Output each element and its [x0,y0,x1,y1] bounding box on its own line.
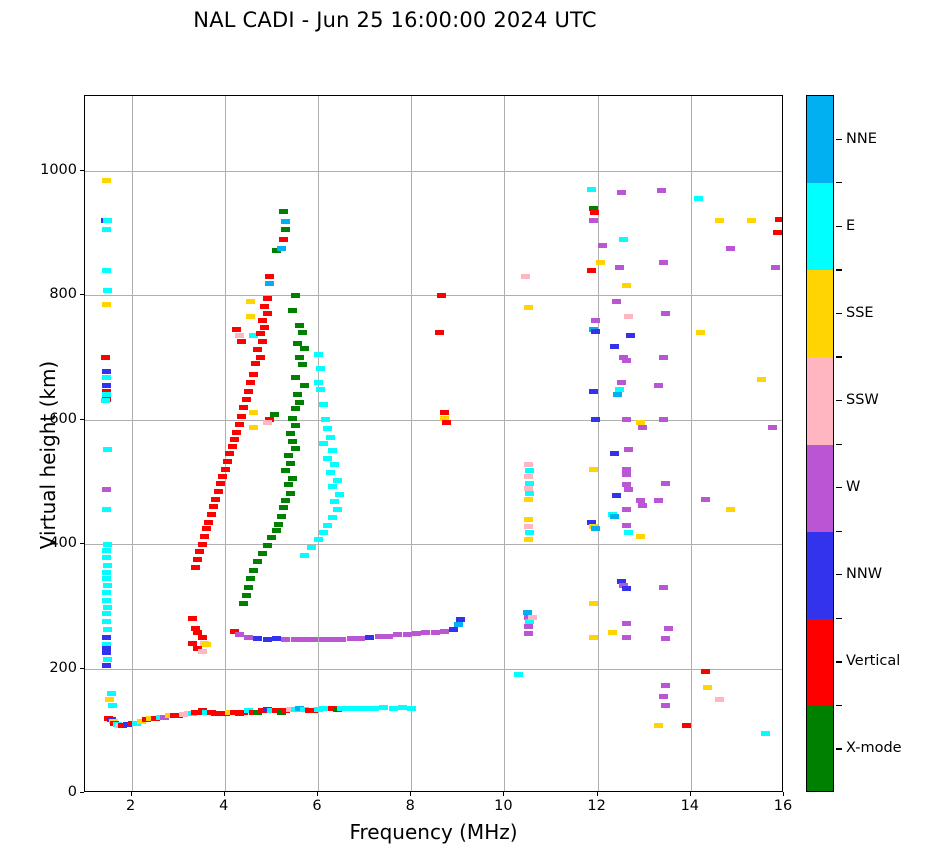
echo-point [263,296,272,301]
echo-point [591,318,600,323]
echo-point [622,358,631,363]
echo-point [524,305,533,310]
echo-point [321,417,330,422]
gridline-horizontal [85,295,782,296]
echo-point [300,553,309,558]
echo-point [622,586,631,591]
echo-point [193,557,202,562]
echo-point [622,635,631,640]
echo-point [624,530,633,535]
echo-point [747,218,756,223]
echo-point [198,635,207,640]
y-axis-tick [80,792,84,793]
echo-point [323,426,332,431]
echo-point [102,548,111,553]
echo-point [761,731,770,736]
colorbar-label-e: E [846,218,855,234]
echo-point [715,218,724,223]
colorbar-center-tick [836,574,842,575]
echo-point [265,274,274,279]
echo-point [619,237,628,242]
echo-point [221,467,230,472]
echo-point [694,196,703,201]
echo-point [249,425,258,430]
y-axis-tick-label: 600 [49,411,77,427]
echo-point [598,243,607,248]
echo-point [246,314,255,319]
echo-point [659,417,668,422]
echo-point [102,650,111,655]
x-axis-tick-label: 6 [312,798,321,814]
echo-point [661,683,670,688]
echo-point [258,339,267,344]
echo-point [347,636,356,641]
echo-point [521,274,530,279]
echo-point [295,400,304,405]
page-title: NAL CADI - Jun 25 16:00:00 2024 UTC [0,8,790,32]
echo-point [228,444,237,449]
echo-point [757,377,766,382]
x-axis-tick-label: 16 [774,798,792,814]
echo-point [659,585,668,590]
echo-point [209,504,218,509]
colorbar-center-tick [836,226,842,227]
gridline-horizontal [85,544,782,545]
echo-point [524,537,533,542]
echo-point [202,642,211,647]
echo-point [617,190,626,195]
echo-point [589,601,598,606]
echo-point [101,398,110,403]
echo-point [437,293,446,298]
echo-point [412,631,421,636]
echo-point [253,559,262,564]
echo-point [242,593,251,598]
colorbar-band-sse [807,270,833,357]
echo-point [726,507,735,512]
gridline-vertical [132,96,133,791]
echo-point [281,498,290,503]
colorbar-center-tick [836,487,842,488]
echo-point [638,503,647,508]
colorbar-tick [836,531,842,532]
echo-point [661,703,670,708]
colorbar-tick [836,269,842,270]
echo-point [263,637,272,642]
echo-point [589,467,598,472]
echo-point [237,414,246,419]
echo-point [454,622,463,627]
echo-point [773,230,782,235]
echo-point [102,555,111,560]
echo-point [384,634,393,639]
echo-point [525,530,534,535]
echo-point [319,530,328,535]
echo-point [610,514,619,519]
echo-point [449,627,458,632]
x-axis-tick-label: 2 [126,798,135,814]
echo-point [102,619,111,624]
echo-point [251,361,260,366]
y-axis-tick-label: 1000 [40,162,77,178]
echo-point [103,583,112,588]
echo-point [323,523,332,528]
echo-point [103,542,112,547]
echo-point [256,355,265,360]
colorbar-label-nnw: NNW [846,566,882,582]
echo-point [295,355,304,360]
echo-point [103,447,112,452]
x-axis-tick [690,792,691,796]
echo-point [277,246,286,251]
echo-point [244,635,253,640]
echo-point [204,520,213,525]
echo-point [715,697,724,702]
echo-point [612,299,621,304]
echo-point [610,344,619,349]
echo-point [361,706,370,711]
echo-point [277,514,286,519]
echo-point [393,632,402,637]
echo-point [319,441,328,446]
echo-point [291,423,300,428]
echo-point [300,346,309,351]
echo-point [407,706,416,711]
colorbar-center-tick [836,139,842,140]
colorbar-tick [836,618,842,619]
echo-point [214,489,223,494]
x-axis-tick [131,792,132,796]
y-axis-tick-label: 800 [49,286,77,302]
echo-point [330,462,339,467]
echo-point [284,453,293,458]
gridline-vertical [598,96,599,791]
echo-point [286,431,295,436]
echo-point [195,549,204,554]
gridline-horizontal [85,420,782,421]
echo-point [525,468,534,473]
echo-point [258,318,267,323]
echo-point [596,260,605,265]
echo-point [102,302,111,307]
echo-point [316,387,325,392]
echo-point [591,526,600,531]
y-axis-tick-label: 0 [68,784,77,800]
colorbar-band-ssw [807,357,833,444]
echo-point [442,420,451,425]
echo-point [333,478,342,483]
echo-point [654,723,663,728]
echo-point [293,392,302,397]
colorbar-band-e [807,183,833,270]
echo-point [274,522,283,527]
echo-point [281,468,290,473]
echo-point [107,691,116,696]
echo-point [188,616,197,621]
echo-point [326,470,335,475]
echo-point [288,439,297,444]
echo-point [239,405,248,410]
echo-point [591,417,600,422]
x-axis-label: Frequency (MHz) [84,820,783,844]
echo-point [291,637,300,642]
echo-point [622,283,631,288]
echo-point [211,497,220,502]
echo-point [590,210,599,215]
echo-point [525,491,534,496]
echo-point [365,635,374,640]
echo-point [295,323,304,328]
echo-point [103,657,112,662]
echo-point [626,333,635,338]
echo-point [309,637,318,642]
echo-point [622,523,631,528]
echo-point [768,425,777,430]
echo-point [230,437,239,442]
echo-point [771,265,780,270]
echo-point [291,406,300,411]
echo-point [232,430,241,435]
gridline-vertical [411,96,412,791]
echo-point [281,637,290,642]
colorbar-label-w: W [846,479,860,495]
x-axis-tick [503,792,504,796]
echo-point [456,617,465,622]
echo-point [244,389,253,394]
colorbar-center-tick [836,400,842,401]
echo-point [701,669,710,674]
echo-point [701,497,710,502]
echo-point [207,512,216,517]
echo-point [622,507,631,512]
echo-point [260,325,269,330]
echo-point [636,534,645,539]
echo-point [659,694,668,699]
colorbar-center-tick [836,313,842,314]
echo-point [661,311,670,316]
echo-point [244,585,253,590]
echo-point [330,499,339,504]
echo-point [589,635,598,640]
echo-point [202,526,211,531]
echo-point [298,330,307,335]
x-axis-tick [317,792,318,796]
echo-point [102,611,111,616]
echo-point [398,705,407,710]
echo-point [102,590,111,595]
echo-point [235,422,244,427]
echo-point [316,366,325,371]
echo-point [610,451,619,456]
echo-point [103,563,112,568]
echo-point [102,227,111,232]
echo-point [101,355,110,360]
x-axis-tick-label: 8 [406,798,415,814]
echo-point [524,474,533,479]
echo-point [314,380,323,385]
echo-point [328,484,337,489]
echo-point [591,329,600,334]
echo-point [654,498,663,503]
echo-point [249,568,258,573]
gridline-vertical [691,96,692,791]
echo-point [102,178,111,183]
echo-point [267,535,276,540]
echo-point [624,487,633,492]
y-axis-tick [80,543,84,544]
echo-point [326,435,335,440]
echo-point [587,187,596,192]
echo-point [216,481,225,486]
echo-point [587,268,596,273]
echo-point [200,534,209,539]
echo-point [300,383,309,388]
echo-point [263,311,272,316]
gridline-vertical [504,96,505,791]
echo-point [249,372,258,377]
y-axis-tick [80,170,84,171]
echo-point [435,330,444,335]
echo-point [253,636,262,641]
y-axis-tick [80,668,84,669]
echo-point [696,330,705,335]
echo-point [335,492,344,497]
echo-point [356,636,365,641]
colorbar-tick [836,705,842,706]
colorbar-label-x-mode: X-mode [846,740,902,756]
echo-point [256,331,265,336]
echo-point [102,570,111,575]
echo-point [279,505,288,510]
echo-point [218,474,227,479]
colorbar-tick [836,356,842,357]
echo-point [258,551,267,556]
echo-point [661,481,670,486]
echo-point [286,461,295,466]
echo-point [661,636,670,641]
colorbar-label-nne: NNE [846,131,877,147]
colorbar-tick [836,182,842,183]
gridline-horizontal [85,669,782,670]
echo-point [589,218,598,223]
ionogram-plot-area [84,95,783,792]
echo-point [260,304,269,309]
x-axis-tick-label: 12 [587,798,605,814]
x-axis-tick-label: 10 [494,798,512,814]
echo-point [291,446,300,451]
y-axis-tick-label: 400 [49,535,77,551]
echo-point [328,637,337,642]
echo-point [102,507,111,512]
x-axis-tick [783,792,784,796]
echo-point [288,308,297,313]
echo-point [279,209,288,214]
colorbar-band-x-mode [807,706,833,792]
echo-point [235,632,244,637]
echo-point [613,392,622,397]
echo-point [622,417,631,422]
echo-point [370,706,379,711]
echo-point [319,637,328,642]
echo-point [253,347,262,352]
echo-point [272,636,281,641]
echo-point [638,425,647,430]
echo-point [102,635,111,640]
x-axis-tick-label: 14 [681,798,699,814]
echo-point [300,637,309,642]
colorbar-band-vertical [807,619,833,706]
echo-point [333,507,342,512]
echo-point [612,493,621,498]
echo-point [198,542,207,547]
echo-point [624,447,633,452]
echo-point [102,375,111,380]
echo-point [103,218,112,223]
echo-point [615,265,624,270]
echo-point [524,631,533,636]
echo-point [102,576,111,581]
echo-point [242,397,251,402]
echo-point [528,615,537,620]
echo-point [389,706,398,711]
colorbar-center-tick [836,661,842,662]
echo-point [622,621,631,626]
echo-point [659,260,668,265]
echo-point [102,487,111,492]
echo-point [440,629,449,634]
echo-point [659,355,668,360]
echo-point [249,410,258,415]
x-axis-tick [224,792,225,796]
echo-point [421,630,430,635]
echo-point [102,598,111,603]
gridline-vertical [225,96,226,791]
y-axis-tick [80,419,84,420]
y-axis-tick-label: 200 [49,660,77,676]
colorbar-band-w [807,445,833,532]
echo-point [608,630,617,635]
echo-point [664,626,673,631]
echo-point [279,237,288,242]
colorbar-label-ssw: SSW [846,392,879,408]
echo-point [103,288,112,293]
echo-point [103,627,112,632]
echo-point [263,543,272,548]
echo-point [235,333,244,338]
echo-point [682,723,691,728]
echo-point [319,402,328,407]
x-axis-tick [597,792,598,796]
y-axis-tick [80,294,84,295]
colorbar-tick [836,444,842,445]
azimuth-colorbar [806,95,834,792]
echo-point [654,383,663,388]
colorbar-band-nne [807,96,833,183]
echo-point [524,462,533,467]
echo-point [775,217,783,222]
echo-point [103,605,112,610]
echo-point [246,576,255,581]
echo-point [524,497,533,502]
colorbar-center-tick [836,748,842,749]
echo-point [225,451,234,456]
echo-point [431,630,440,635]
echo-point [265,281,274,286]
echo-point [323,456,332,461]
echo-point [263,420,272,425]
echo-point [246,380,255,385]
echo-point [102,663,111,668]
